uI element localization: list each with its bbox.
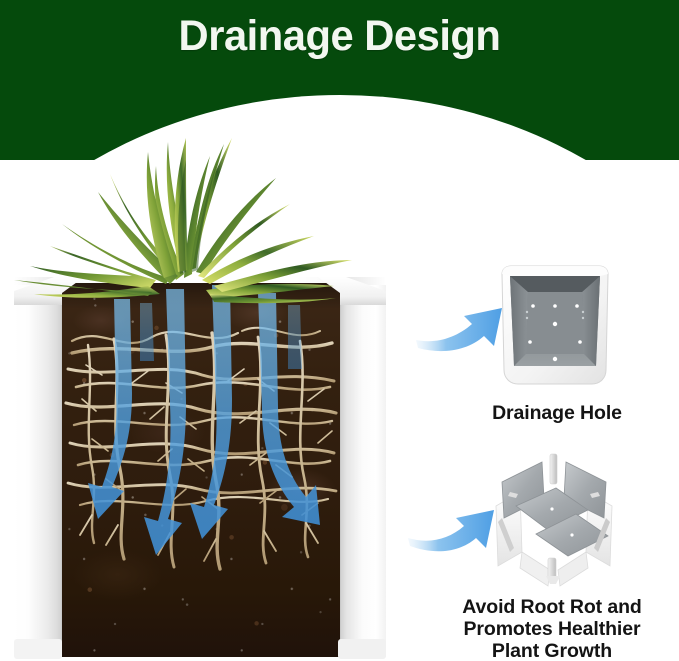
caption-line-2: Promotes Healthier bbox=[432, 618, 672, 640]
planter-base bbox=[14, 639, 386, 661]
caption-line-3: Plant Growth bbox=[432, 640, 672, 661]
planter-exploded-view bbox=[486, 448, 622, 590]
header-banner: Drainage Design bbox=[0, 0, 679, 160]
infographic-root: Drainage Design bbox=[0, 0, 679, 661]
planter-interior-view bbox=[496, 262, 614, 390]
planter-wall-left bbox=[14, 285, 62, 657]
page-title: Drainage Design bbox=[10, 14, 669, 59]
caption-line-1: Avoid Root Rot and bbox=[432, 596, 672, 618]
caption-root-rot: Avoid Root Rot and Promotes Healthier Pl… bbox=[432, 596, 672, 661]
planter-cross-section bbox=[14, 277, 386, 657]
planter-wall-right bbox=[340, 285, 386, 657]
soil-cross-section bbox=[62, 283, 340, 657]
caption-drainage-hole: Drainage Hole bbox=[452, 402, 662, 424]
planter-rim bbox=[14, 275, 386, 309]
water-flow-arrows bbox=[62, 283, 340, 657]
